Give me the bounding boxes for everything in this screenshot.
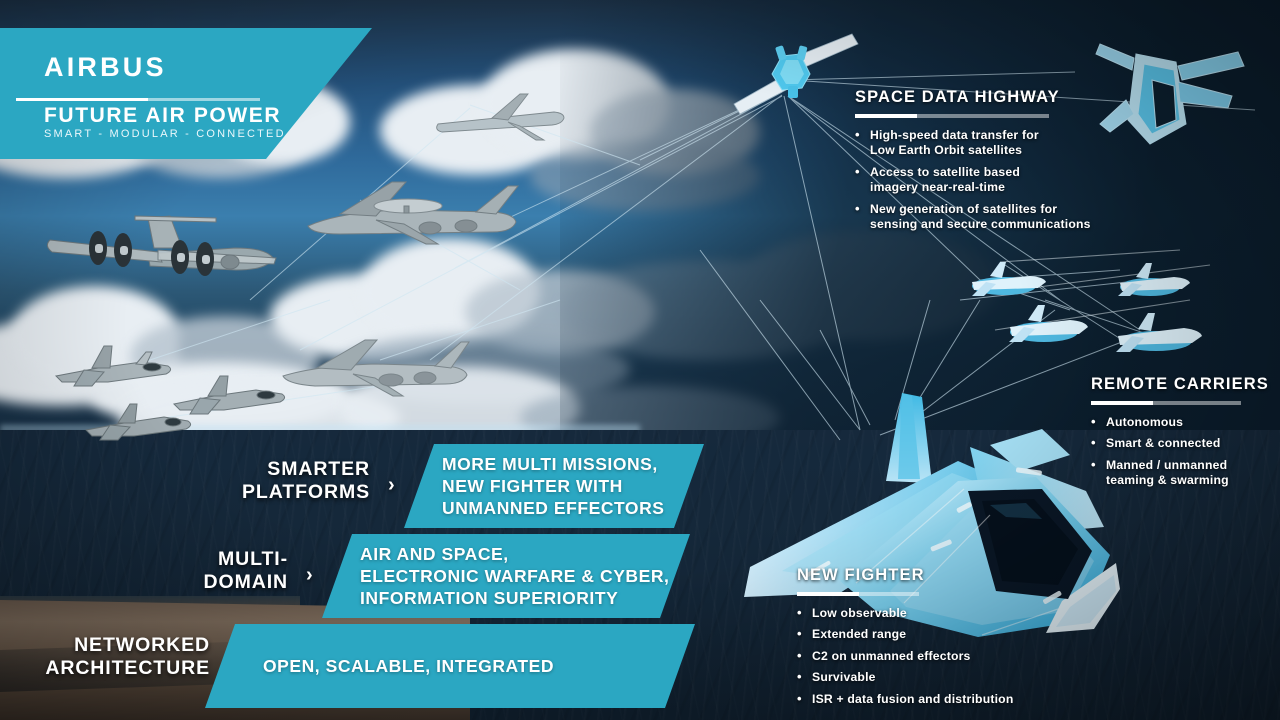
banner-text-networked-architecture: OPEN, SCALABLE, INTEGRATED: [205, 655, 554, 677]
banner-line: INFORMATION SUPERIORITY: [360, 587, 669, 609]
banner-line: AIR AND SPACE,: [360, 543, 669, 565]
a400m-transport-aircraft: [30, 200, 300, 310]
bullet-line: Manned / unmanned: [1106, 458, 1280, 474]
bullet-line: New generation of satellites for: [870, 202, 1125, 218]
list-item: C2 on unmanned effectors: [797, 649, 1057, 665]
bullet-line: teaming & swarming: [1106, 473, 1280, 489]
communications-satellite: [730, 30, 860, 130]
pillar-label-smarter-platforms: SMARTER PLATFORMS: [190, 458, 370, 504]
info-bullet-list-space-data-highway: High-speed data transfer for Low Earth O…: [855, 128, 1125, 233]
info-title-space-data-highway: SPACE DATA HIGHWAY: [855, 88, 1125, 107]
pillar-label-line: NETWORKED: [20, 634, 210, 657]
info-divider: [855, 114, 1049, 118]
banner-smarter-platforms: MORE MULTI MISSIONS, NEW FIGHTER WITH UN…: [404, 444, 704, 528]
info-title-new-fighter: NEW FIGHTER: [797, 566, 1057, 585]
pillar-label-line: SMARTER: [190, 458, 370, 481]
chevron-icon-multi-domain: ›: [306, 564, 313, 587]
list-item: High-speed data transfer for Low Earth O…: [855, 128, 1125, 159]
page-subtitle: SMART - MODULAR - CONNECTED: [44, 128, 286, 140]
info-bullet-list-remote-carriers: Autonomous Smart & connected Manned / un…: [1091, 415, 1280, 489]
bullet-line: ISR + data fusion and distribution: [812, 692, 1057, 708]
banner-line: ELECTRONIC WARFARE & CYBER,: [360, 565, 669, 587]
banner-line: OPEN, SCALABLE, INTEGRATED: [263, 655, 554, 677]
info-divider: [1091, 401, 1241, 405]
bullet-line: Survivable: [812, 670, 1057, 686]
pillar-label-line: PLATFORMS: [190, 481, 370, 504]
list-item: ISR + data fusion and distribution: [797, 692, 1057, 708]
list-item: Extended range: [797, 627, 1057, 643]
banner-text-multi-domain: AIR AND SPACE, ELECTRONIC WARFARE & CYBE…: [322, 543, 669, 609]
a330-mrtt-tanker-aircraft: [265, 330, 475, 410]
list-item: Manned / unmanned teaming & swarming: [1091, 458, 1280, 489]
remote-carrier-drone-2: [1100, 258, 1196, 304]
banner-text-smarter-platforms: MORE MULTI MISSIONS, NEW FIGHTER WITH UN…: [404, 453, 665, 519]
header-divider: [16, 98, 260, 101]
remote-carrier-drone-4: [1098, 308, 1208, 360]
remote-carrier-drone-3: [990, 300, 1094, 350]
bullet-line: Low Earth Orbit satellites: [870, 143, 1125, 159]
list-item: Access to satellite based imagery near-r…: [855, 165, 1125, 196]
info-block-remote-carriers: REMOTE CARRIERS Autonomous Smart & conne…: [1091, 375, 1280, 495]
airbus-logo: AIRBUS: [44, 52, 167, 83]
info-block-space-data-highway: SPACE DATA HIGHWAY High-speed data trans…: [855, 88, 1125, 239]
page-title: FUTURE AIR POWER: [44, 104, 281, 128]
info-bullet-list-new-fighter: Low observable Extended range C2 on unma…: [797, 606, 1057, 708]
bullet-line: Access to satellite based: [870, 165, 1125, 181]
bullet-line: Extended range: [812, 627, 1057, 643]
pillar-label-networked-architecture: NETWORKED ARCHITECTURE: [20, 634, 210, 680]
list-item: Autonomous: [1091, 415, 1280, 431]
info-divider: [797, 592, 919, 596]
infographic-canvas: AIRBUS FUTURE AIR POWER SMART - MODULAR …: [0, 0, 1280, 720]
banner-line: MORE MULTI MISSIONS,: [442, 453, 665, 475]
bullet-line: Smart & connected: [1106, 436, 1280, 452]
high-altitude-uav: [432, 88, 572, 158]
banner-multi-domain: AIR AND SPACE, ELECTRONIC WARFARE & CYBE…: [322, 534, 690, 618]
pillar-label-line: DOMAIN: [130, 571, 288, 594]
bullet-line: Autonomous: [1106, 415, 1280, 431]
bullet-line: imagery near-real-time: [870, 180, 1125, 196]
eurofighter-typhoon-3: [80, 398, 200, 452]
bullet-line: High-speed data transfer for: [870, 128, 1125, 144]
list-item: Survivable: [797, 670, 1057, 686]
info-title-remote-carriers: REMOTE CARRIERS: [1091, 375, 1280, 394]
list-item: Smart & connected: [1091, 436, 1280, 452]
list-item: Low observable: [797, 606, 1057, 622]
awacs-surveillance-aircraft: [280, 170, 530, 260]
pillar-label-line: ARCHITECTURE: [20, 657, 210, 680]
pillar-label-line: MULTI-: [130, 548, 288, 571]
list-item: New generation of satellites for sensing…: [855, 202, 1125, 233]
bullet-line: C2 on unmanned effectors: [812, 649, 1057, 665]
remote-carrier-drone-1: [952, 256, 1052, 304]
info-block-new-fighter: NEW FIGHTER Low observable Extended rang…: [797, 566, 1057, 713]
banner-line: NEW FIGHTER WITH: [442, 475, 665, 497]
chevron-icon-smarter-platforms: ›: [388, 474, 395, 497]
bullet-line: sensing and secure communications: [870, 217, 1125, 233]
bullet-line: Low observable: [812, 606, 1057, 622]
banner-line: UNMANNED EFFECTORS: [442, 497, 665, 519]
banner-networked-architecture: OPEN, SCALABLE, INTEGRATED: [205, 624, 695, 708]
eurofighter-typhoon-1: [48, 340, 178, 398]
pillar-label-multi-domain: MULTI- DOMAIN: [130, 548, 288, 594]
